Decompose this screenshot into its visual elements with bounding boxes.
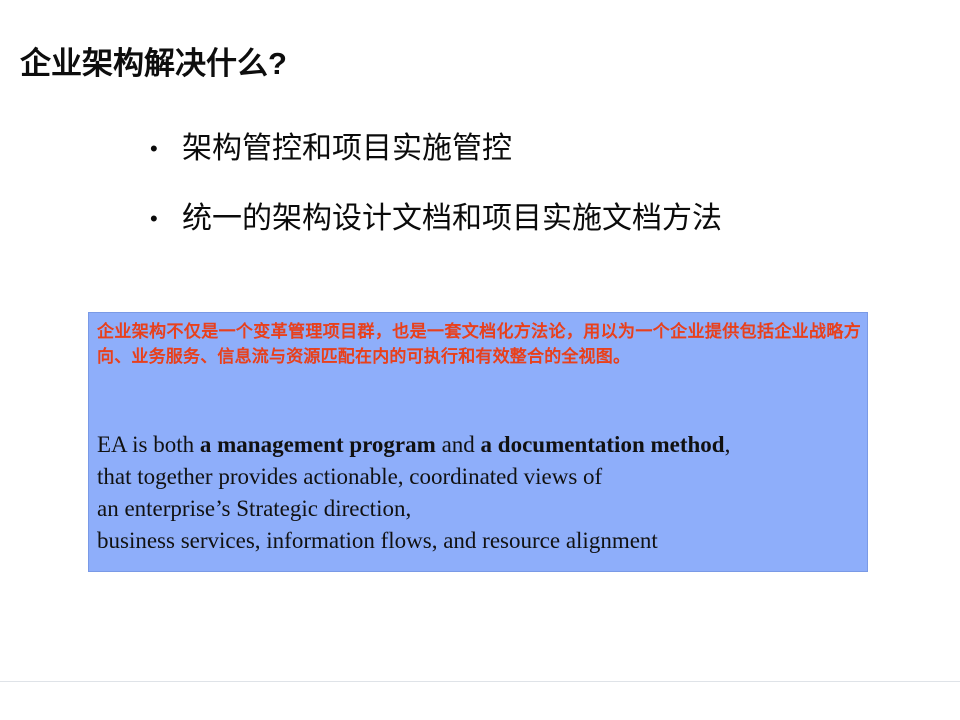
- definition-callout-box: 企业架构不仅是一个变革管理项目群，也是一套文档化方法论，用以为一个企业提供包括企…: [88, 312, 868, 572]
- list-item-label: 统一的架构设计文档和项目实施文档方法: [182, 198, 910, 240]
- callout-english-line: an enterprise’s Strategic direction,: [97, 493, 861, 525]
- plain-text: business services, information flows, an…: [97, 528, 658, 553]
- callout-english-line: EA is both a management program and a do…: [97, 429, 861, 461]
- emphasis-text: a documentation method: [481, 432, 725, 457]
- plain-text: and: [436, 432, 481, 457]
- bullet-dot-icon: •: [150, 128, 182, 170]
- bullet-dot-icon: •: [150, 198, 182, 240]
- list-item-label: 架构管控和项目实施管控: [182, 128, 910, 170]
- list-item: • 架构管控和项目实施管控: [150, 128, 910, 170]
- list-item: • 统一的架构设计文档和项目实施文档方法: [150, 198, 910, 240]
- page-title: 企业架构解决什么?: [20, 45, 287, 83]
- slide-canvas: 企业架构解决什么? • 架构管控和项目实施管控 • 统一的架构设计文档和项目实施…: [0, 0, 960, 720]
- emphasis-text: a management program: [200, 432, 436, 457]
- footer-divider: [0, 681, 960, 682]
- callout-english-definition: EA is both a management program and a do…: [97, 429, 861, 557]
- plain-text: an enterprise’s Strategic direction,: [97, 496, 411, 521]
- bullet-list: • 架构管控和项目实施管控 • 统一的架构设计文档和项目实施文档方法: [150, 128, 910, 268]
- plain-text: EA is both: [97, 432, 200, 457]
- plain-text: that together provides actionable, coord…: [97, 464, 602, 489]
- callout-english-line: business services, information flows, an…: [97, 525, 861, 557]
- callout-english-line: that together provides actionable, coord…: [97, 461, 861, 493]
- callout-chinese-definition: 企业架构不仅是一个变革管理项目群，也是一套文档化方法论，用以为一个企业提供包括企…: [97, 319, 861, 369]
- plain-text: ,: [725, 432, 731, 457]
